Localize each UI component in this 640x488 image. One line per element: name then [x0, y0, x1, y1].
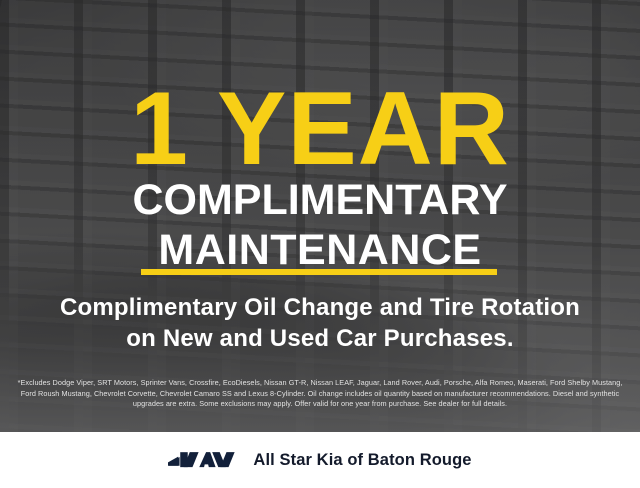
headline-secondary-line-2: MAINTENANCE — [0, 225, 640, 275]
offer-line-1: Complimentary Oil Change and Tire Rotati… — [0, 292, 640, 323]
headline-secondary: COMPLIMENTARY MAINTENANCE — [0, 175, 640, 275]
offer-description: Complimentary Oil Change and Tire Rotati… — [0, 292, 640, 354]
kia-logo-icon — [168, 448, 236, 472]
hero-content: 1 YEAR COMPLIMENTARY MAINTENANCE Complim… — [0, 0, 640, 432]
footer-bar: All Star Kia of Baton Rouge — [0, 432, 640, 488]
hero-section: 1 YEAR COMPLIMENTARY MAINTENANCE Complim… — [0, 0, 640, 432]
offer-line-2: on New and Used Car Purchases. — [0, 323, 640, 354]
yellow-divider-rule — [141, 269, 497, 275]
dealer-name: All Star Kia of Baton Rouge — [253, 451, 471, 470]
headline-secondary-line-1: COMPLIMENTARY — [0, 175, 640, 225]
disclaimer-text: *Excludes Dodge Viper, SRT Motors, Sprin… — [16, 378, 624, 410]
promo-ad-banner: 1 YEAR COMPLIMENTARY MAINTENANCE Complim… — [0, 0, 640, 488]
headline-primary: 1 YEAR — [0, 77, 640, 181]
